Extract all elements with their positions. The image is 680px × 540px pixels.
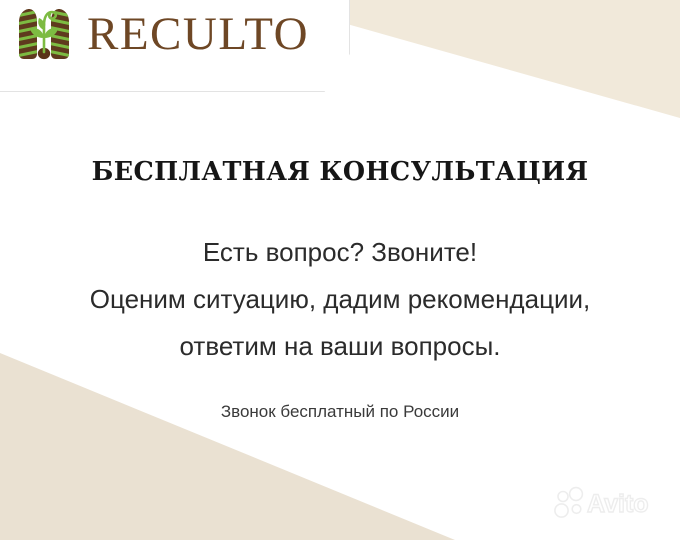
promo-banner: RECULTO БЕСПЛАТНАЯ КОНСУЛЬТАЦИЯ Есть воп… <box>0 0 680 540</box>
free-call-note: Звонок бесплатный по России <box>0 402 680 422</box>
avito-watermark: Avito <box>554 486 662 520</box>
avito-dots-icon <box>555 488 583 517</box>
lead-line-1: Есть вопрос? Звоните! <box>0 229 680 276</box>
page-title: БЕСПЛАТНАЯ КОНСУЛЬТАЦИЯ <box>14 156 667 187</box>
avito-wordmark: Avito <box>587 490 649 518</box>
lead-line-3: ответим на ваши вопросы. <box>0 323 680 370</box>
banner-content: БЕСПЛАТНАЯ КОНСУЛЬТАЦИЯ Есть вопрос? Зво… <box>0 0 680 540</box>
lead-line-2: Оценим ситуацию, дадим рекомендации, <box>0 276 680 323</box>
lead-paragraph: Есть вопрос? Звоните! Оценим ситуацию, д… <box>0 229 680 370</box>
